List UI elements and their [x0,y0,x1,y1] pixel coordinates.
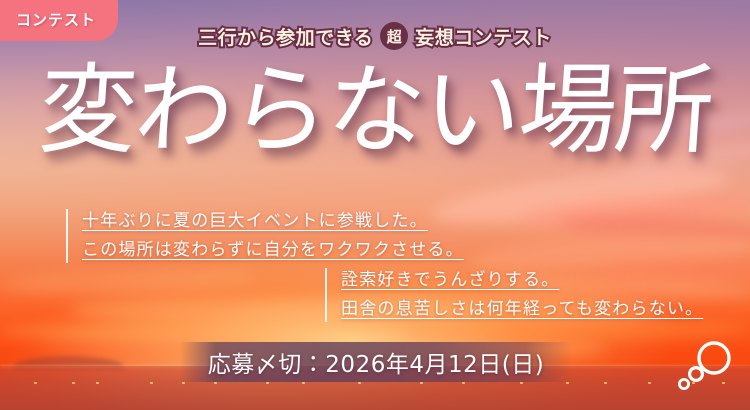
tagline-suffix: 妄想コンテスト [415,23,552,50]
tagline: 三行から参加できる 超 妄想コンテスト [0,22,750,50]
deadline-bar: 応募〆切：2026年4月12日(日) [180,342,572,382]
quote-block-first: 十年ぶりに夏の巨大イベントに参戦した。 この場所は変わらずに自分をワクワクさせる… [66,207,464,265]
tagline-circle-badge: 超 [380,22,408,50]
quote-line: 田舎の息苦しさは何年経っても変わらない。 [341,295,703,324]
page-title: 変わらない場所 [35,52,715,172]
contest-banner: コンテスト 三行から参加できる 超 妄想コンテスト 変わらない場所 十年ぶりに夏… [0,0,750,410]
three-rings-logo [676,340,734,394]
title-area: 変わらない場所 [0,52,750,192]
deadline-text: 応募〆切：2026年4月12日(日) [208,345,544,379]
quote-block-second: 詮索好きでうんざりする。 田舎の息苦しさは何年経っても変わらない。 [325,266,703,324]
shore-lights [0,382,750,388]
quote-line: 詮索好きでうんざりする。 [341,266,703,295]
quote-line: 十年ぶりに夏の巨大イベントに参戦した。 [82,207,464,236]
tagline-prefix: 三行から参加できる [198,23,373,50]
quote-line: この場所は変わらずに自分をワクワクさせる。 [82,236,464,265]
